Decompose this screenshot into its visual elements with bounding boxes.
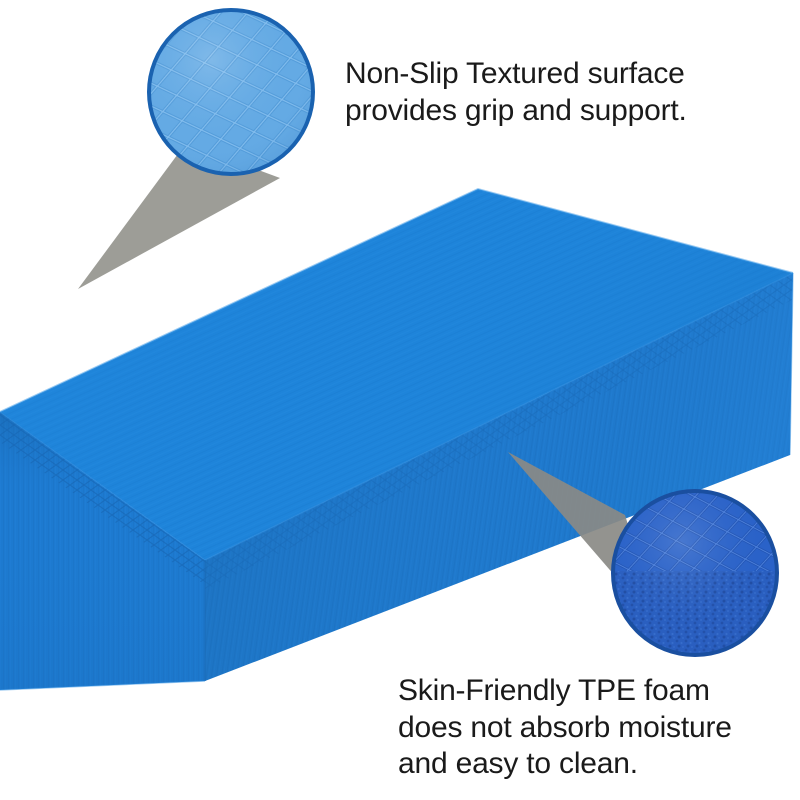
top-callout-magnifier-circle — [149, 10, 313, 174]
callout-text-non-slip-textured-surface: Non-Slip Textured surface provides grip … — [345, 56, 765, 129]
callout-text-skin-friendly-tpe-foam: Skin-Friendly TPE foam does not absorb m… — [398, 673, 798, 783]
product-feature-image: Non-Slip Textured surface provides grip … — [0, 0, 800, 800]
bottom-callout-magnifier-circle — [613, 491, 777, 661]
